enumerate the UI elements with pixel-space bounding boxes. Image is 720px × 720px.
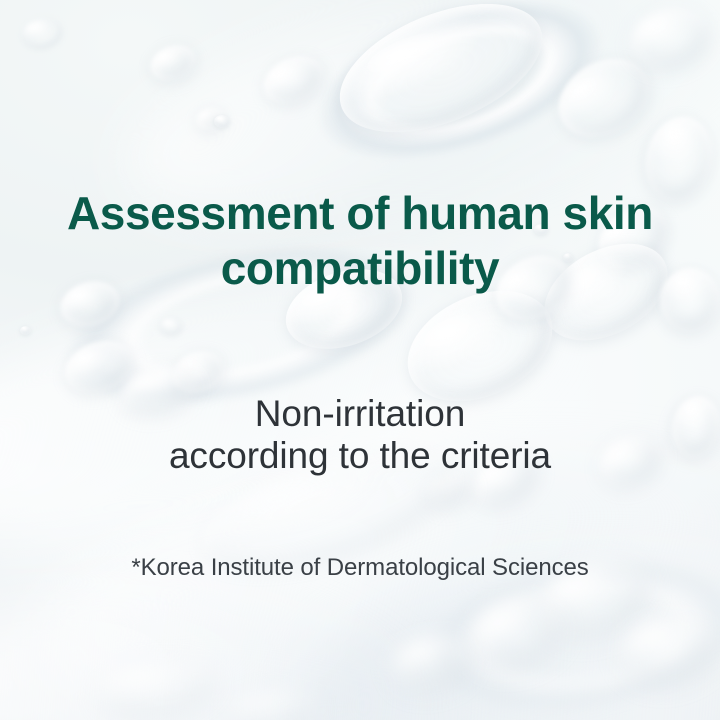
subtitle-text: Non-irritation according to the criteria (0, 393, 720, 477)
marketing-slide: Assessment of human skin compatibility N… (0, 0, 720, 720)
footnote-source: *Korea Institute of Dermatological Scien… (0, 553, 720, 583)
text-layer: Assessment of human skin compatibility N… (0, 0, 720, 720)
page-title: Assessment of human skin compatibility (0, 186, 720, 296)
